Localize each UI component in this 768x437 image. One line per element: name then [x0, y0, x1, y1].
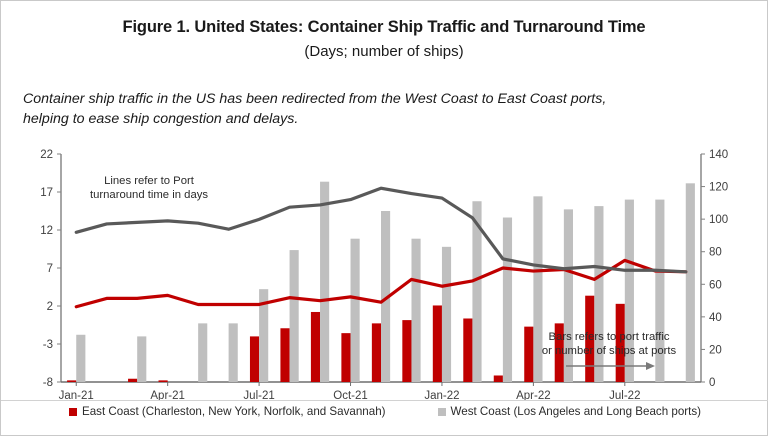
legend-item-east-coast[interactable]: East Coast (Charleston, New York, Norfol…: [69, 405, 386, 418]
y-tick-label-left: 2: [47, 301, 53, 313]
bar-east-coast: [311, 312, 320, 382]
bar-west-coast: [503, 218, 512, 382]
y-tick-label-left: 22: [40, 149, 53, 161]
lede-line-1: Container ship traffic in the US has bee…: [23, 89, 747, 109]
lede-line-2: helping to ease ship congestion and dela…: [23, 109, 747, 129]
bar-east-coast: [463, 318, 472, 382]
bar-west-coast: [76, 335, 85, 382]
y-tick-label-right: 80: [709, 247, 722, 259]
legend-label-west-coast: West Coast (Los Angeles and Long Beach p…: [451, 405, 702, 418]
chart-legend: East Coast (Charleston, New York, Norfol…: [1, 405, 768, 418]
y-tick-label-right: 20: [709, 344, 722, 356]
bar-west-coast: [198, 323, 207, 382]
bar-east-coast: [67, 380, 76, 382]
bar-east-coast: [250, 336, 259, 382]
y-tick-label-left: 17: [40, 187, 53, 199]
bar-west-coast: [320, 182, 329, 382]
bar-west-coast: [290, 250, 299, 382]
bar-east-coast: [524, 327, 533, 382]
arrow-head: [646, 362, 655, 370]
legend-swatch-west-coast: [438, 408, 446, 416]
bar-west-coast: [411, 239, 420, 382]
annotation-lines-note-line-1: Lines refer to Port: [104, 175, 195, 187]
bar-east-coast: [433, 305, 442, 382]
bar-west-coast: [686, 183, 695, 382]
y-tick-label-right: 40: [709, 312, 722, 324]
legend-item-west-coast[interactable]: West Coast (Los Angeles and Long Beach p…: [438, 405, 702, 418]
annotation-bars-note-line-2: or number of ships at ports: [542, 345, 677, 357]
title-block: Figure 1. United States: Container Ship …: [1, 1, 767, 61]
y-tick-label-right: 120: [709, 182, 728, 194]
bar-east-coast: [341, 333, 350, 382]
figure-page: Figure 1. United States: Container Ship …: [0, 0, 768, 436]
page-title: Figure 1. United States: Container Ship …: [1, 17, 767, 38]
annotation-bars-note-line-1: Bars refers to port traffic: [549, 331, 670, 343]
bar-west-coast: [442, 247, 451, 382]
y-tick-label-right: 60: [709, 279, 722, 291]
y-tick-label-right: 140: [709, 149, 728, 161]
page-subtitle: (Days; number of ships): [1, 42, 767, 62]
bar-west-coast: [351, 239, 360, 382]
y-tick-label-left: -3: [43, 339, 53, 351]
figure-lede: Container ship traffic in the US has bee…: [23, 89, 747, 129]
legend-swatch-east-coast: [69, 408, 77, 416]
bar-west-coast: [137, 336, 146, 382]
legend-label-east-coast: East Coast (Charleston, New York, Norfol…: [82, 405, 386, 418]
right-arrow-icon: [566, 362, 655, 370]
bar-east-coast: [128, 379, 137, 382]
y-tick-label-left: 12: [40, 225, 53, 237]
y-tick-label-right: 100: [709, 214, 728, 226]
annotation-lines-note-line-2: turnaround time in days: [90, 189, 208, 201]
chart-area: -8-327121722020406080100120140Jan-21Apr-…: [1, 141, 768, 437]
y-tick-label-left: 7: [47, 263, 53, 275]
bar-east-coast: [402, 320, 411, 382]
y-tick-label-left: -8: [43, 377, 53, 389]
legend-divider: [1, 400, 768, 401]
bar-west-coast: [229, 323, 238, 382]
bar-east-coast: [494, 375, 503, 382]
bar-east-coast: [280, 328, 289, 382]
bar-east-coast: [159, 380, 168, 382]
combo-chart: -8-327121722020406080100120140Jan-21Apr-…: [1, 141, 768, 401]
y-tick-label-right: 0: [709, 377, 715, 389]
bar-east-coast: [372, 323, 381, 382]
